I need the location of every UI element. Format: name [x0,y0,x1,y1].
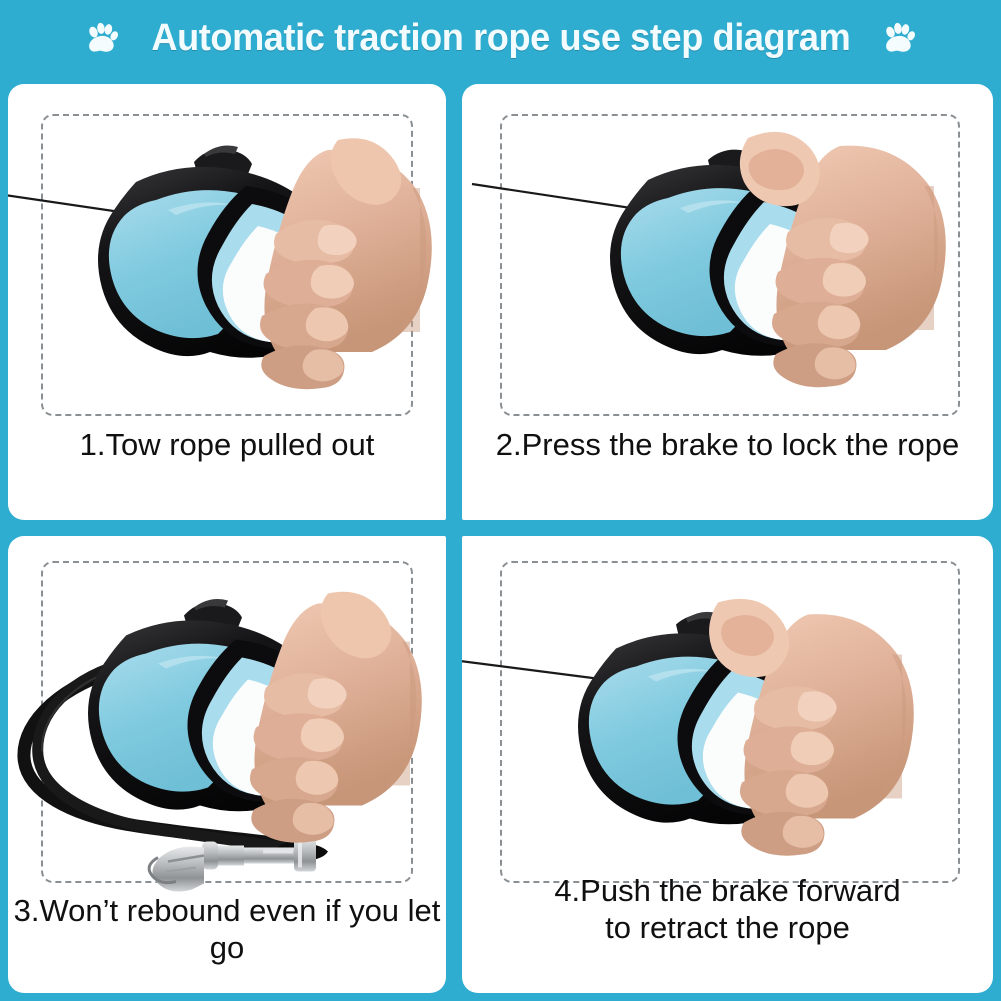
header-banner: Automatic traction rope use step diagram [0,0,1001,76]
step-caption-4: 4.Push the brake forward to retract the … [462,872,993,946]
infographic-root: Automatic traction rope use step diagram [0,0,1001,1001]
step-caption-2: 2.Press the brake to lock the rope [462,426,993,463]
steps-grid: 1.Tow rope pulled out [0,76,1001,1001]
step-caption-1: 1.Tow rope pulled out [8,426,446,463]
paw-print-icon-right [882,22,916,56]
paw-print-icon-left [85,22,119,56]
step-panel-2: 2.Press the brake to lock the rope [462,84,993,520]
step-panel-1: 1.Tow rope pulled out [8,84,446,520]
page-title: Automatic traction rope use step diagram [151,16,850,60]
step-caption-3: 3.Won’t rebound even if you let go [8,892,446,966]
step-panel-3: 3.Won’t rebound even if you let go [8,536,446,993]
step-panel-4: 4.Push the brake forward to retract the … [462,536,993,993]
